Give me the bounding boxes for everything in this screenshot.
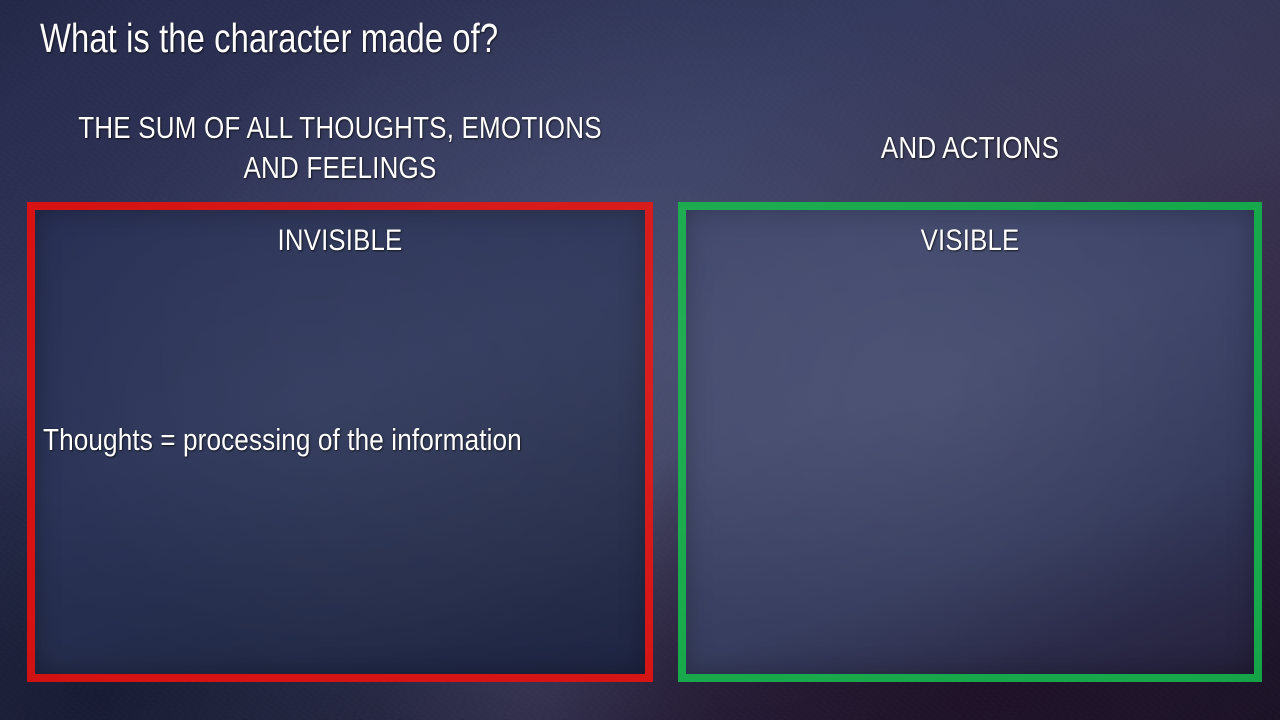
panel-invisible-body: Thoughts = processing of the information… — [43, 310, 668, 720]
spacer — [43, 570, 668, 601]
slide-content-layer: What is the character made of? THE SUM O… — [0, 0, 1280, 720]
panel-visible: VISIBLE — [678, 202, 1262, 682]
list-item: Thoughts = processing of the information — [43, 414, 668, 466]
panel-visible-heading: VISIBLE — [726, 224, 1214, 258]
panel-invisible: INVISIBLE Thoughts = processing of the i… — [27, 202, 653, 682]
panel-invisible-heading: INVISIBLE — [78, 224, 603, 258]
list-item: Emotions = reaction of the body to the t… — [43, 706, 668, 720]
slide: What is the character made of? THE SUM O… — [0, 0, 1280, 720]
page-title: What is the character made of? — [40, 14, 498, 62]
subtitle-left: THE SUM OF ALL THOUGHTS, EMOTIONS AND FE… — [71, 108, 609, 189]
subtitle-right: AND ACTIONS — [725, 128, 1216, 168]
